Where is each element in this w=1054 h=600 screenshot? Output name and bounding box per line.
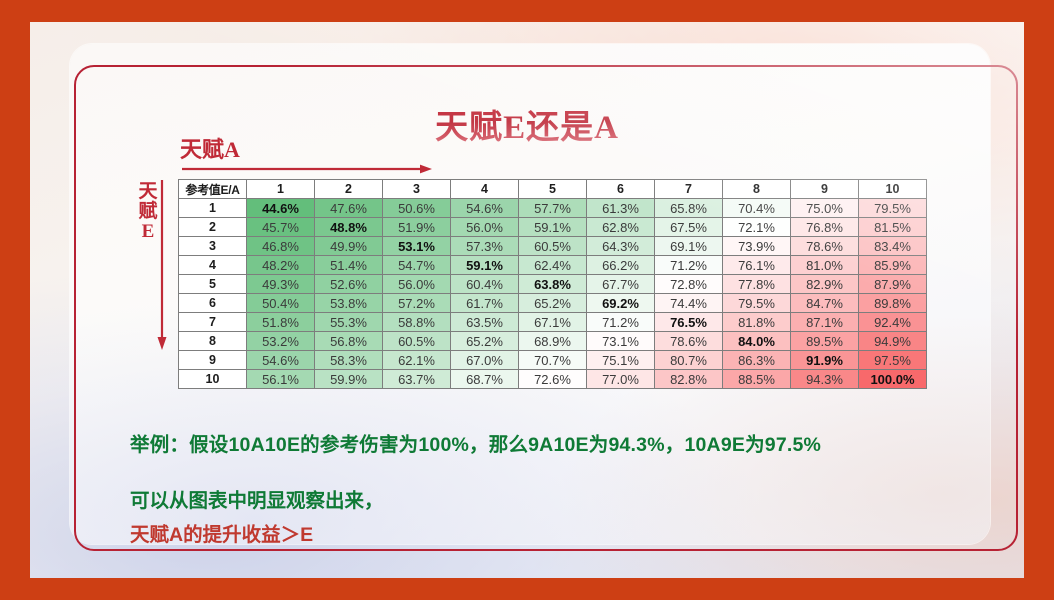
cell-e8-a7: 78.6% <box>655 332 723 351</box>
cell-e7-a2: 55.3% <box>315 313 383 332</box>
cell-e2-a3: 51.9% <box>383 218 451 237</box>
cell-e6-a6: 69.2% <box>587 294 655 313</box>
cell-e7-a10: 92.4% <box>859 313 927 332</box>
cell-e2-a10: 81.5% <box>859 218 927 237</box>
cell-e9-a7: 80.7% <box>655 351 723 370</box>
row-header-9: 9 <box>179 351 247 370</box>
cell-e1-a1: 44.6% <box>247 199 315 218</box>
cell-e4-a7: 71.2% <box>655 256 723 275</box>
example-note: 举例：假设10A10E的参考伤害为100%，那么9A10E为94.3%，10A9… <box>130 428 821 457</box>
cell-e9-a1: 54.6% <box>247 351 315 370</box>
cell-e3-a10: 83.4% <box>859 237 927 256</box>
cell-e5-a1: 49.3% <box>247 275 315 294</box>
cell-e5-a10: 87.9% <box>859 275 927 294</box>
table-row: 751.8%55.3%58.8%63.5%67.1%71.2%76.5%81.8… <box>179 313 927 332</box>
column-header-2: 2 <box>315 180 383 199</box>
cell-e4-a1: 48.2% <box>247 256 315 275</box>
cell-e1-a5: 57.7% <box>519 199 587 218</box>
table-corner-header: 参考值E/A <box>179 180 247 199</box>
cell-e4-a6: 66.2% <box>587 256 655 275</box>
cell-e5-a9: 82.9% <box>791 275 859 294</box>
cell-e7-a7: 76.5% <box>655 313 723 332</box>
column-header-1: 1 <box>247 180 315 199</box>
cell-e2-a7: 67.5% <box>655 218 723 237</box>
column-header-7: 7 <box>655 180 723 199</box>
table-head: 参考值E/A 12345678910 <box>179 180 927 199</box>
row-header-8: 8 <box>179 332 247 351</box>
cell-e10-a9: 94.3% <box>791 370 859 389</box>
cell-e4-a8: 76.1% <box>723 256 791 275</box>
row-header-2: 2 <box>179 218 247 237</box>
cell-e10-a10: 100.0% <box>859 370 927 389</box>
cell-e8-a2: 56.8% <box>315 332 383 351</box>
cell-e6-a2: 53.8% <box>315 294 383 313</box>
cell-e10-a3: 63.7% <box>383 370 451 389</box>
cell-e10-a7: 82.8% <box>655 370 723 389</box>
cell-e6-a10: 89.8% <box>859 294 927 313</box>
cell-e1-a8: 70.4% <box>723 199 791 218</box>
row-header-7: 7 <box>179 313 247 332</box>
cell-e8-a8: 84.0% <box>723 332 791 351</box>
column-header-3: 3 <box>383 180 451 199</box>
arrow-right-icon <box>182 164 432 174</box>
cell-e3-a1: 46.8% <box>247 237 315 256</box>
cell-e4-a3: 54.7% <box>383 256 451 275</box>
table-row: 853.2%56.8%60.5%65.2%68.9%73.1%78.6%84.0… <box>179 332 927 351</box>
cell-e6-a1: 50.4% <box>247 294 315 313</box>
column-header-10: 10 <box>859 180 927 199</box>
heatmap-table-wrap: 参考值E/A 12345678910 144.6%47.6%50.6%54.6%… <box>178 179 927 389</box>
cell-e9-a5: 70.7% <box>519 351 587 370</box>
cell-e6-a3: 57.2% <box>383 294 451 313</box>
cell-e1-a2: 47.6% <box>315 199 383 218</box>
cell-e9-a2: 58.3% <box>315 351 383 370</box>
cell-e4-a5: 62.4% <box>519 256 587 275</box>
cell-e6-a7: 74.4% <box>655 294 723 313</box>
row-header-4: 4 <box>179 256 247 275</box>
arrow-down-icon <box>156 180 168 350</box>
cell-e8-a9: 89.5% <box>791 332 859 351</box>
cell-e3-a9: 78.6% <box>791 237 859 256</box>
row-header-3: 3 <box>179 237 247 256</box>
cell-e9-a6: 75.1% <box>587 351 655 370</box>
table-row: 1056.1%59.9%63.7%68.7%72.6%77.0%82.8%88.… <box>179 370 927 389</box>
cell-e5-a5: 63.8% <box>519 275 587 294</box>
cell-e5-a6: 67.7% <box>587 275 655 294</box>
row-header-1: 1 <box>179 199 247 218</box>
cell-e10-a8: 88.5% <box>723 370 791 389</box>
axis-label-horizontal: 天赋A <box>180 132 240 164</box>
cell-e2-a9: 76.8% <box>791 218 859 237</box>
cell-e2-a1: 45.7% <box>247 218 315 237</box>
cell-e3-a8: 73.9% <box>723 237 791 256</box>
cell-e9-a10: 97.5% <box>859 351 927 370</box>
cell-e8-a10: 94.9% <box>859 332 927 351</box>
cell-e6-a8: 79.5% <box>723 294 791 313</box>
cell-e8-a4: 65.2% <box>451 332 519 351</box>
cell-e10-a6: 77.0% <box>587 370 655 389</box>
table-row: 448.2%51.4%54.7%59.1%62.4%66.2%71.2%76.1… <box>179 256 927 275</box>
column-header-9: 9 <box>791 180 859 199</box>
cell-e4-a10: 85.9% <box>859 256 927 275</box>
cell-e8-a6: 73.1% <box>587 332 655 351</box>
cell-e10-a5: 72.6% <box>519 370 587 389</box>
cell-e4-a4: 59.1% <box>451 256 519 275</box>
cell-e3-a2: 49.9% <box>315 237 383 256</box>
cell-e10-a1: 56.1% <box>247 370 315 389</box>
cell-e6-a4: 61.7% <box>451 294 519 313</box>
cell-e7-a5: 67.1% <box>519 313 587 332</box>
cell-e1-a3: 50.6% <box>383 199 451 218</box>
cell-e6-a9: 84.7% <box>791 294 859 313</box>
cell-e8-a5: 68.9% <box>519 332 587 351</box>
cell-e5-a3: 56.0% <box>383 275 451 294</box>
cell-e4-a2: 51.4% <box>315 256 383 275</box>
slide-root: 天赋E还是A 天赋A 天 赋 E 参考值E/A 12345678910 144.… <box>0 0 1054 600</box>
table-row: 650.4%53.8%57.2%61.7%65.2%69.2%74.4%79.5… <box>179 294 927 313</box>
cell-e3-a4: 57.3% <box>451 237 519 256</box>
conclusion-line-2: 天赋A的提升收益＞E <box>130 518 313 547</box>
cell-e7-a9: 87.1% <box>791 313 859 332</box>
column-header-4: 4 <box>451 180 519 199</box>
cell-e1-a9: 75.0% <box>791 199 859 218</box>
cell-e8-a3: 60.5% <box>383 332 451 351</box>
cell-e1-a4: 54.6% <box>451 199 519 218</box>
cell-e5-a2: 52.6% <box>315 275 383 294</box>
cell-e2-a6: 62.8% <box>587 218 655 237</box>
row-header-10: 10 <box>179 370 247 389</box>
table-row: 144.6%47.6%50.6%54.6%57.7%61.3%65.8%70.4… <box>179 199 927 218</box>
table-row: 245.7%48.8%51.9%56.0%59.1%62.8%67.5%72.1… <box>179 218 927 237</box>
cell-e2-a5: 59.1% <box>519 218 587 237</box>
column-header-8: 8 <box>723 180 791 199</box>
row-header-5: 5 <box>179 275 247 294</box>
table-header-row: 参考值E/A 12345678910 <box>179 180 927 199</box>
cell-e3-a7: 69.1% <box>655 237 723 256</box>
table-row: 954.6%58.3%62.1%67.0%70.7%75.1%80.7%86.3… <box>179 351 927 370</box>
cell-e7-a6: 71.2% <box>587 313 655 332</box>
cell-e2-a4: 56.0% <box>451 218 519 237</box>
cell-e5-a7: 72.8% <box>655 275 723 294</box>
cell-e2-a2: 48.8% <box>315 218 383 237</box>
heatmap-table: 参考值E/A 12345678910 144.6%47.6%50.6%54.6%… <box>178 179 927 389</box>
cell-e1-a6: 61.3% <box>587 199 655 218</box>
conclusion-line-1: 可以从图表中明显观察出来， <box>130 484 384 513</box>
column-header-6: 6 <box>587 180 655 199</box>
cell-e5-a8: 77.8% <box>723 275 791 294</box>
cell-e1-a7: 65.8% <box>655 199 723 218</box>
cell-e6-a5: 65.2% <box>519 294 587 313</box>
cell-e5-a4: 60.4% <box>451 275 519 294</box>
cell-e1-a10: 79.5% <box>859 199 927 218</box>
cell-e9-a8: 86.3% <box>723 351 791 370</box>
slide-page: 天赋E还是A 天赋A 天 赋 E 参考值E/A 12345678910 144.… <box>30 22 1024 578</box>
cell-e10-a4: 68.7% <box>451 370 519 389</box>
cell-e7-a8: 81.8% <box>723 313 791 332</box>
cell-e4-a9: 81.0% <box>791 256 859 275</box>
cell-e2-a8: 72.1% <box>723 218 791 237</box>
cell-e10-a2: 59.9% <box>315 370 383 389</box>
column-header-5: 5 <box>519 180 587 199</box>
cell-e7-a4: 63.5% <box>451 313 519 332</box>
cell-e7-a3: 58.8% <box>383 313 451 332</box>
table-row: 549.3%52.6%56.0%60.4%63.8%67.7%72.8%77.8… <box>179 275 927 294</box>
cell-e8-a1: 53.2% <box>247 332 315 351</box>
cell-e9-a3: 62.1% <box>383 351 451 370</box>
table-row: 346.8%49.9%53.1%57.3%60.5%64.3%69.1%73.9… <box>179 237 927 256</box>
row-header-6: 6 <box>179 294 247 313</box>
cell-e3-a3: 53.1% <box>383 237 451 256</box>
cell-e3-a5: 60.5% <box>519 237 587 256</box>
table-body: 144.6%47.6%50.6%54.6%57.7%61.3%65.8%70.4… <box>179 199 927 389</box>
cell-e3-a6: 64.3% <box>587 237 655 256</box>
cell-e9-a4: 67.0% <box>451 351 519 370</box>
cell-e9-a9: 91.9% <box>791 351 859 370</box>
cell-e7-a1: 51.8% <box>247 313 315 332</box>
